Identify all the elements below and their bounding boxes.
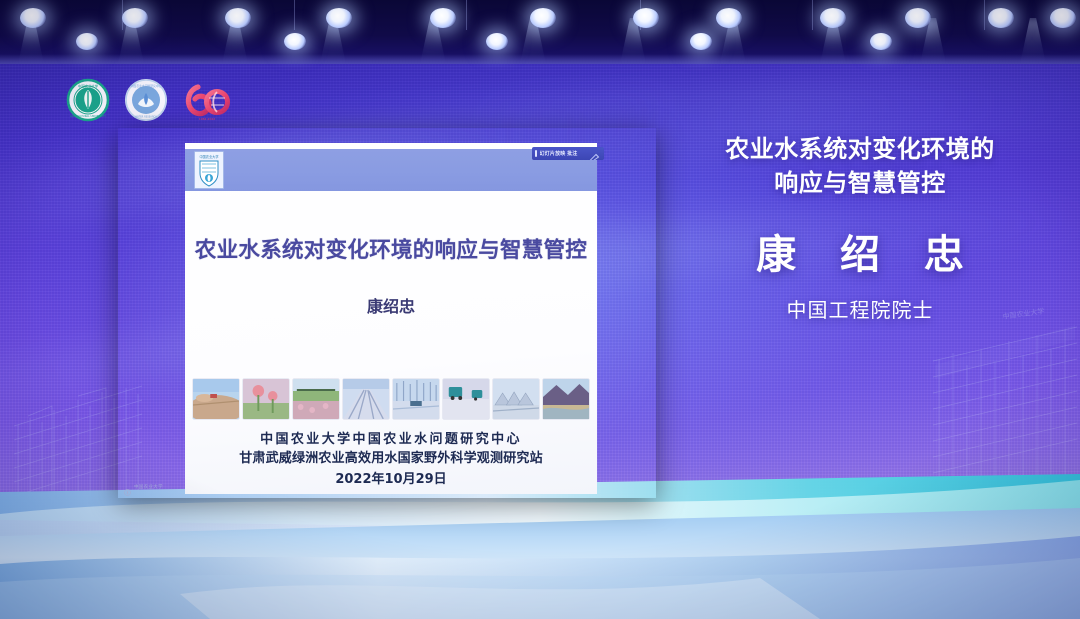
conference-emblem-icon: 中国农业水问题研究中心 WATER RESEARCH <box>124 78 168 122</box>
sixtieth-anniversary-logo-icon: 1962-2022 <box>182 78 232 122</box>
ceiling-spotlight <box>486 33 508 50</box>
ceiling-spotlight <box>690 33 712 50</box>
ceiling-spotlight <box>870 33 892 50</box>
ceiling-spotlight <box>326 8 352 28</box>
slide-thumbnail <box>393 379 439 419</box>
sponsor-logo-row: 中国农业大学 AGRICULTURAL UNIVERSITY 中国农业水问题研究… <box>66 78 232 122</box>
china-agricultural-university-seal-icon: 中国农业大学 AGRICULTURAL UNIVERSITY <box>66 78 110 122</box>
slide-thumbnail <box>543 379 589 419</box>
ceiling-spotlight <box>122 8 148 28</box>
svg-text:1962-2022: 1962-2022 <box>199 117 215 121</box>
ceiling-spotlight <box>820 8 846 28</box>
watermark-text: 中国农业大学 <box>134 484 163 490</box>
ceiling-spotlight <box>633 8 659 28</box>
slide-footer: 中国农业大学中国农业水问题研究中心 甘肃武威绿洲农业高效用水国家野外科学观测研究… <box>185 431 597 491</box>
ceiling-spotlight <box>905 8 931 28</box>
watermark-icon <box>124 483 131 490</box>
slide-thumbnail-strip <box>193 379 589 419</box>
university-crest-icon: 中国农业大学 <box>194 151 224 189</box>
ceiling-spotlight <box>76 33 98 50</box>
ceiling-spotlight <box>988 8 1014 28</box>
svg-text:WATER RESEARCH: WATER RESEARCH <box>135 116 157 119</box>
speaker-affiliation: 中国工程院院士 <box>660 294 1060 323</box>
session-title-line-1: 农业水系统对变化环境的 <box>660 132 1060 166</box>
slide-thumbnail <box>193 379 239 419</box>
speaker-info-panel: 农业水系统对变化环境的 响应与智慧管控 康 绍 忠 中国工程院院士 <box>660 132 1060 323</box>
slide-title: 农业水系统对变化环境的响应与智慧管控 <box>185 233 597 264</box>
slide-thumbnail <box>343 379 389 419</box>
slide-thumbnail <box>493 379 539 419</box>
slide-footer-date: 2022年10月29日 <box>185 469 597 491</box>
svg-text:中国农业大学: 中国农业大学 <box>78 84 99 89</box>
session-title: 农业水系统对变化环境的 响应与智慧管控 <box>660 132 1060 200</box>
ceiling-spotlight <box>225 8 251 28</box>
ceiling-spotlight <box>1050 8 1076 28</box>
slide-footer-line-2: 甘肃武威绿洲农业高效用水国家野外科学观测研究站 <box>185 450 597 469</box>
presenter-toolbar-chip[interactable]: 幻灯片放映 批注 <box>532 147 604 160</box>
session-title-line-2: 响应与智慧管控 <box>660 166 1060 200</box>
svg-text:中国农业水问题研究中心: 中国农业水问题研究中心 <box>131 84 162 88</box>
slide-thumbnail <box>243 379 289 419</box>
conference-stage-photo: 中国农业大学 <box>0 0 1080 619</box>
ceiling-spotlight <box>430 8 456 28</box>
ceiling-spotlight <box>530 8 556 28</box>
presenter-toolbar-label: 幻灯片放映 批注 <box>540 150 587 157</box>
ceiling-spotlight <box>716 8 742 28</box>
svg-text:中国农业大学: 中国农业大学 <box>199 154 218 159</box>
slide-footer-line-1: 中国农业大学中国农业水问题研究中心 <box>185 431 597 450</box>
slide-thumbnail <box>443 379 489 419</box>
slide-thumbnail <box>293 379 339 419</box>
ceiling-spotlight <box>20 8 46 28</box>
speaker-name: 康 绍 忠 <box>660 222 1060 280</box>
pen-icon[interactable] <box>589 149 601 158</box>
menu-bar-icon <box>535 150 537 157</box>
svg-text:AGRICULTURAL UNIVERSITY: AGRICULTURAL UNIVERSITY <box>70 114 106 118</box>
ceiling-spotlight <box>284 33 306 50</box>
slide-author: 康绍忠 <box>185 293 597 317</box>
bezel-watermark: 中国农业大学 <box>124 483 163 490</box>
presentation-slide[interactable]: 中国农业大学 农业水系统对变化环境的响应与智慧管控 康绍忠 <box>185 143 597 494</box>
